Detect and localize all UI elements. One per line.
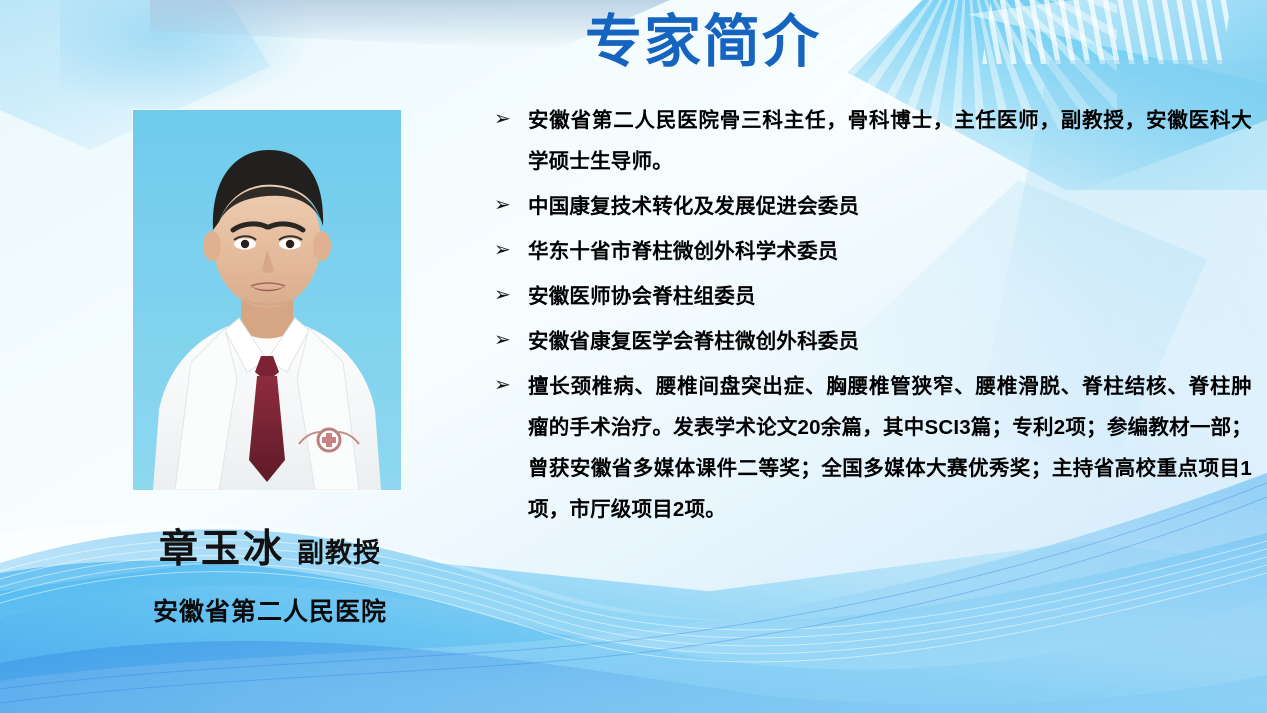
expert-portrait-photo bbox=[133, 110, 401, 490]
list-item-text: 安徽医师协会脊柱组委员 bbox=[528, 276, 1252, 317]
arrow-bullet-icon: ➢ bbox=[492, 276, 528, 315]
expert-name: 章玉冰 bbox=[159, 528, 285, 571]
list-item: ➢ 中国康复技术转化及发展促进会委员 bbox=[492, 186, 1252, 227]
list-item: ➢ 华东十省市脊柱微创外科学术委员 bbox=[492, 231, 1252, 272]
list-item: ➢ 安徽省第二人民医院骨三科主任，骨科博士，主任医师，副教授，安徽医科大学硕士生… bbox=[492, 100, 1252, 182]
decorative-hatch-pattern bbox=[982, 0, 1232, 64]
expert-name-block: 章玉冰副教授 bbox=[110, 518, 430, 574]
list-item-text: 安徽省康复医学会脊柱微创外科委员 bbox=[528, 321, 1252, 362]
list-item-text: 华东十省市脊柱微创外科学术委员 bbox=[528, 231, 1252, 272]
portrait-illustration bbox=[133, 110, 401, 490]
arrow-bullet-icon: ➢ bbox=[492, 366, 528, 405]
list-item: ➢ 擅长颈椎病、腰椎间盘突出症、胸腰椎管狭窄、腰椎滑脱、脊柱结核、脊柱肿瘤的手术… bbox=[492, 366, 1252, 530]
arrow-bullet-icon: ➢ bbox=[492, 231, 528, 270]
expert-credentials-list: ➢ 安徽省第二人民医院骨三科主任，骨科博士，主任医师，副教授，安徽医科大学硕士生… bbox=[492, 100, 1252, 534]
expert-profile-slide: 专家简介 ➢ 安徽省第二人民医院骨三科主任，骨科博士，主任医师，副教授，安徽医科… bbox=[0, 0, 1267, 713]
arrow-bullet-icon: ➢ bbox=[492, 186, 528, 225]
list-item-text: 中国康复技术转化及发展促进会委员 bbox=[528, 186, 1252, 227]
list-item-text: 安徽省第二人民医院骨三科主任，骨科博士，主任医师，副教授，安徽医科大学硕士生导师… bbox=[528, 100, 1252, 182]
arrow-bullet-icon: ➢ bbox=[492, 100, 528, 139]
list-item: ➢ 安徽医师协会脊柱组委员 bbox=[492, 276, 1252, 317]
list-item: ➢ 安徽省康复医学会脊柱微创外科委员 bbox=[492, 321, 1252, 362]
expert-academic-title: 副教授 bbox=[297, 538, 381, 568]
page-title: 专家简介 bbox=[563, 8, 843, 76]
arrow-bullet-icon: ➢ bbox=[492, 321, 528, 360]
expert-hospital: 安徽省第二人民医院 bbox=[110, 592, 430, 628]
decorative-glow-top-left bbox=[60, 0, 320, 112]
list-item-text: 擅长颈椎病、腰椎间盘突出症、胸腰椎管狭窄、腰椎滑脱、脊柱结核、脊柱肿瘤的手术治疗… bbox=[528, 366, 1252, 530]
